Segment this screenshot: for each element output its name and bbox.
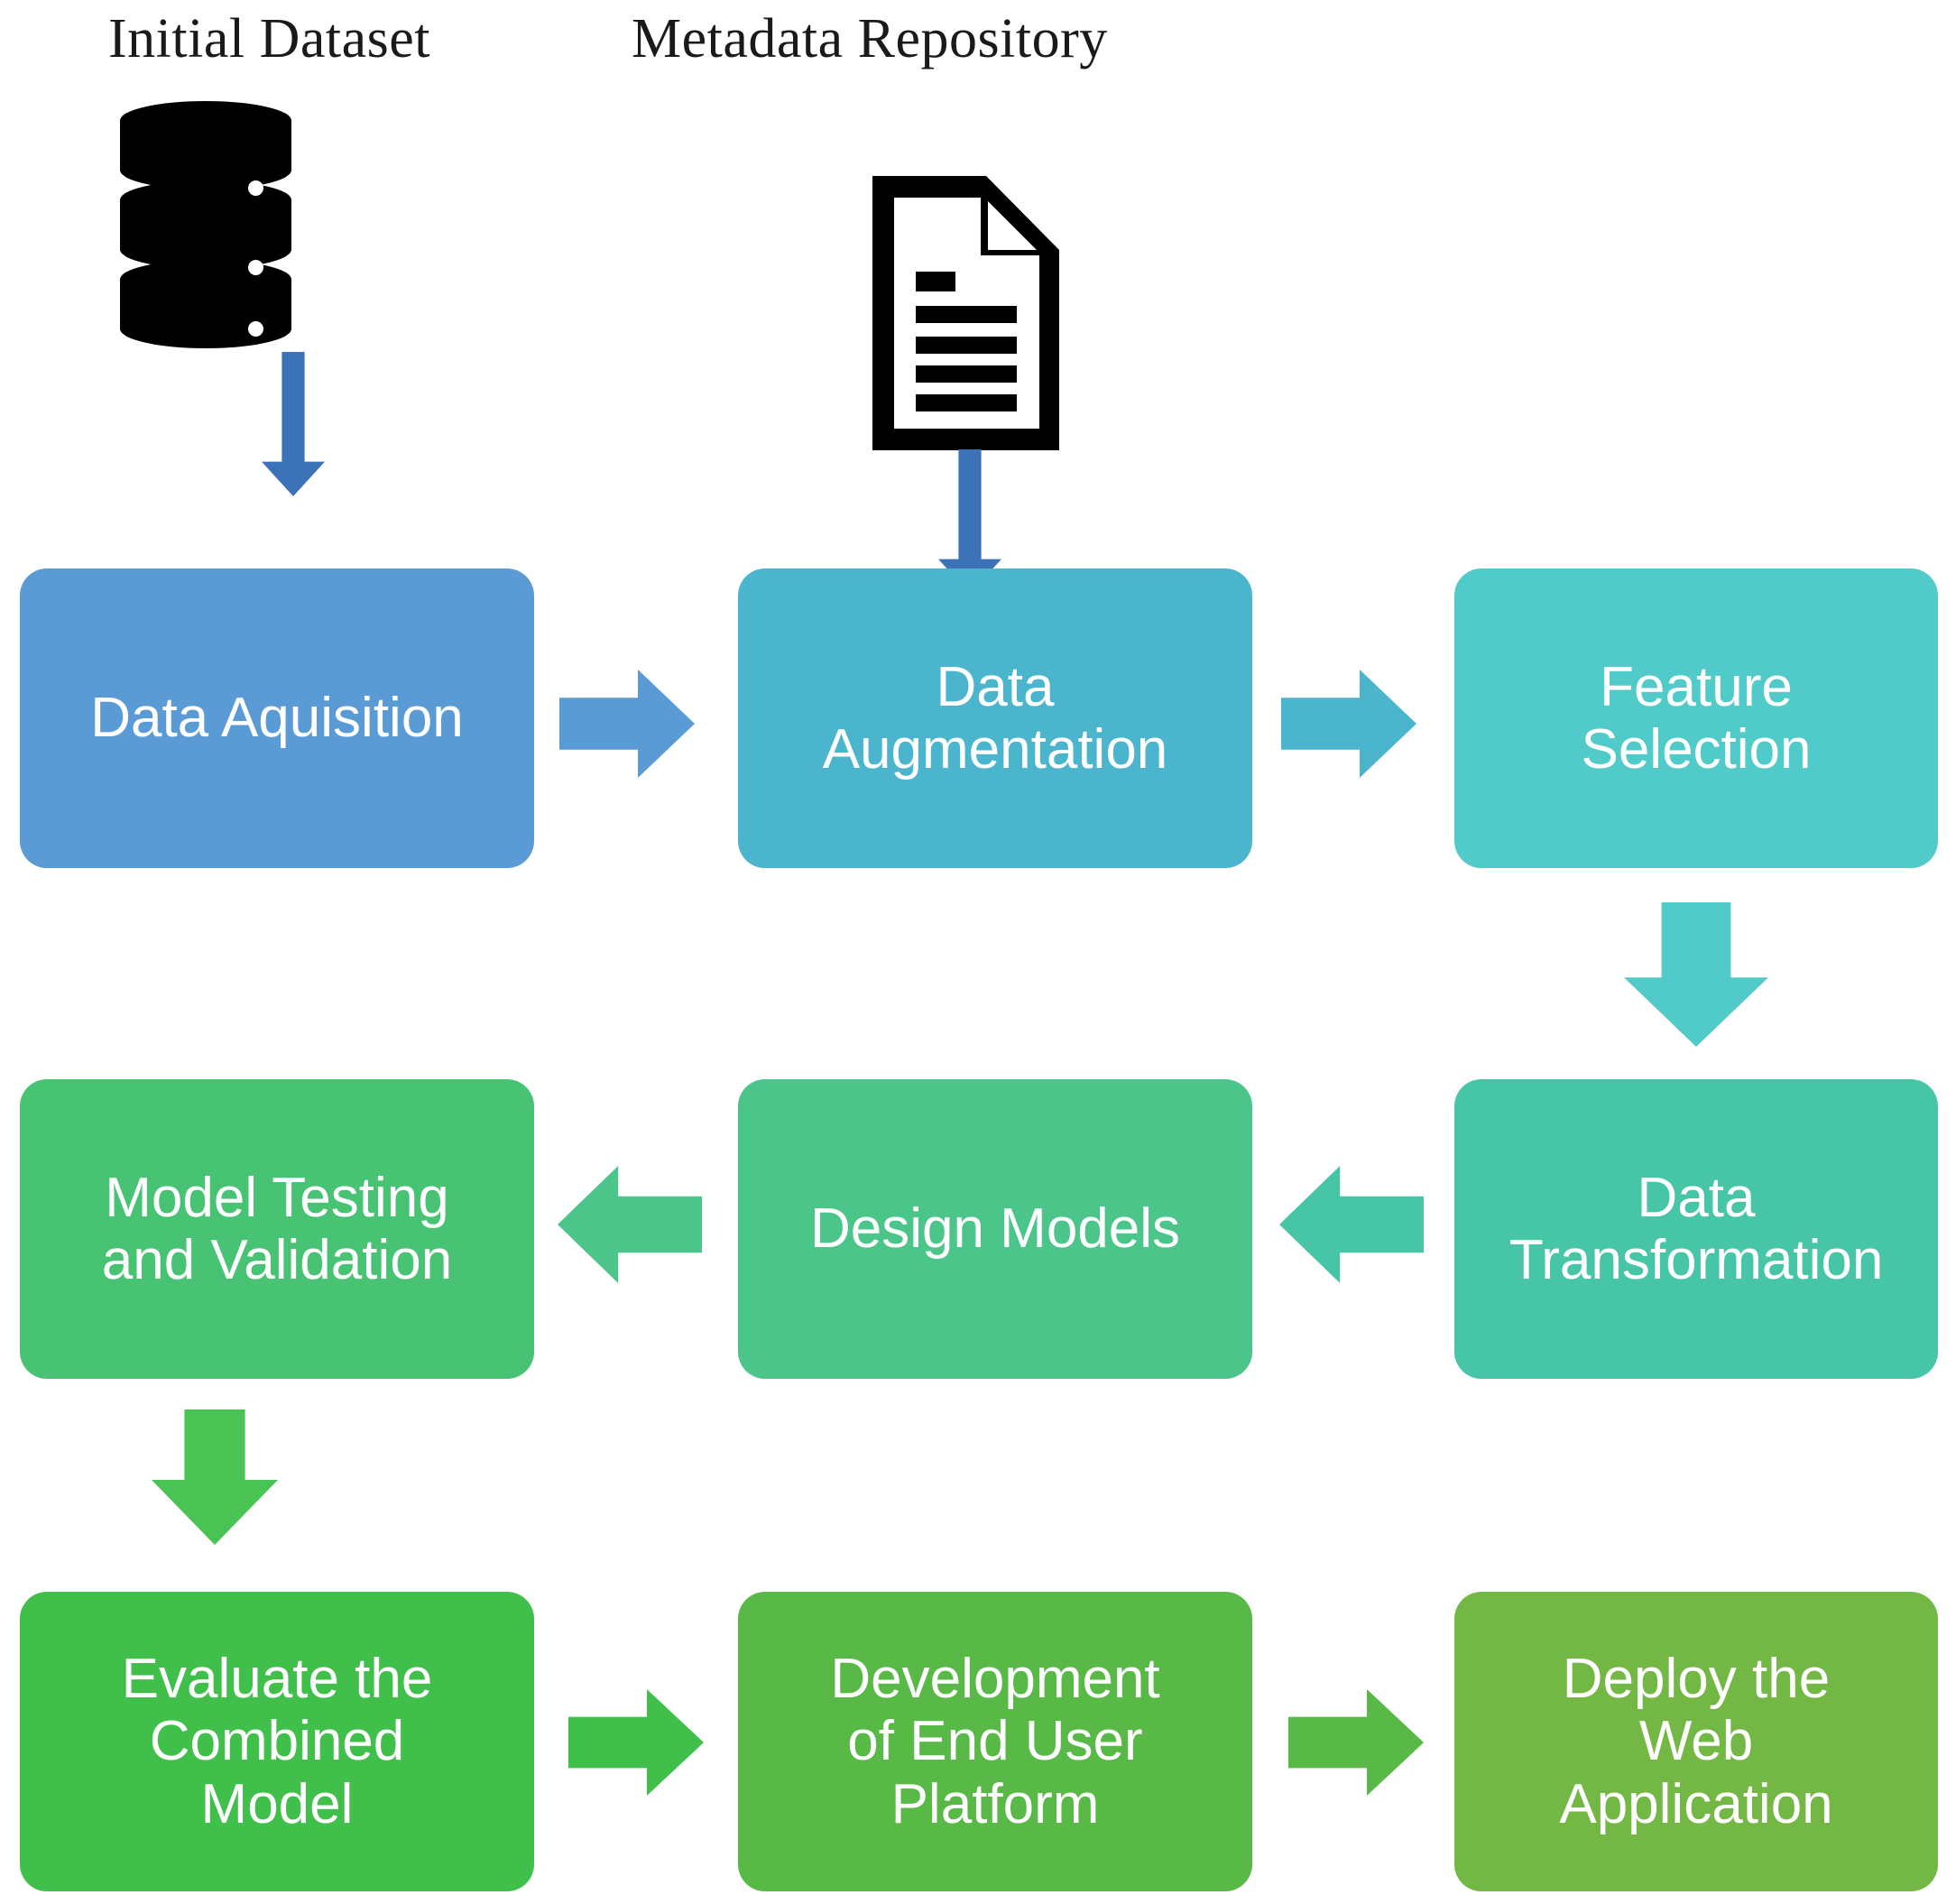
node-development-of-end-user-platform[interactable]: Development of End User Platform (738, 1592, 1252, 1891)
node-deploy-web-application[interactable]: Deploy the Web Application (1454, 1592, 1938, 1891)
arrow-design-models-to-model-testing (558, 1166, 702, 1283)
node-evaluate-combined-model[interactable]: Evaluate the Combined Model (20, 1592, 534, 1891)
node-design-models[interactable]: Design Models (738, 1079, 1252, 1379)
node-feature-selection[interactable]: Feature Selection (1454, 568, 1938, 868)
heading-metadata-repository: Metadata Repository (632, 7, 1108, 71)
arrow-feature-selection-to-data-transformation (1624, 902, 1768, 1047)
flowchart-canvas: Initial Dataset Metadata Repository Data… (0, 0, 1956, 1904)
arrow-data-transformation-to-design-models (1279, 1166, 1424, 1283)
arrow-data-augmentation-to-feature-selection (1281, 670, 1416, 778)
arrow-model-testing-to-evaluate-model (152, 1410, 278, 1545)
arrow-data-acquisition-to-data-augmentation (559, 670, 695, 778)
arrow-database-to-data-acquisition (262, 352, 325, 496)
database-cylinder-icon (120, 101, 291, 352)
node-data-augmentation[interactable]: Data Augmentation (738, 568, 1252, 868)
document-file-svg (869, 174, 1063, 452)
node-data-acquisition[interactable]: Data Aquisition (20, 568, 534, 868)
document-file-icon (869, 174, 1063, 452)
heading-initial-dataset: Initial Dataset (108, 7, 430, 71)
arrow-evaluate-model-to-development-platform (568, 1689, 704, 1796)
node-data-transformation[interactable]: Data Transformation (1454, 1079, 1938, 1379)
node-model-testing-and-validation[interactable]: Model Testing and Validation (20, 1079, 534, 1379)
arrow-development-platform-to-deploy-web-app (1288, 1689, 1424, 1796)
